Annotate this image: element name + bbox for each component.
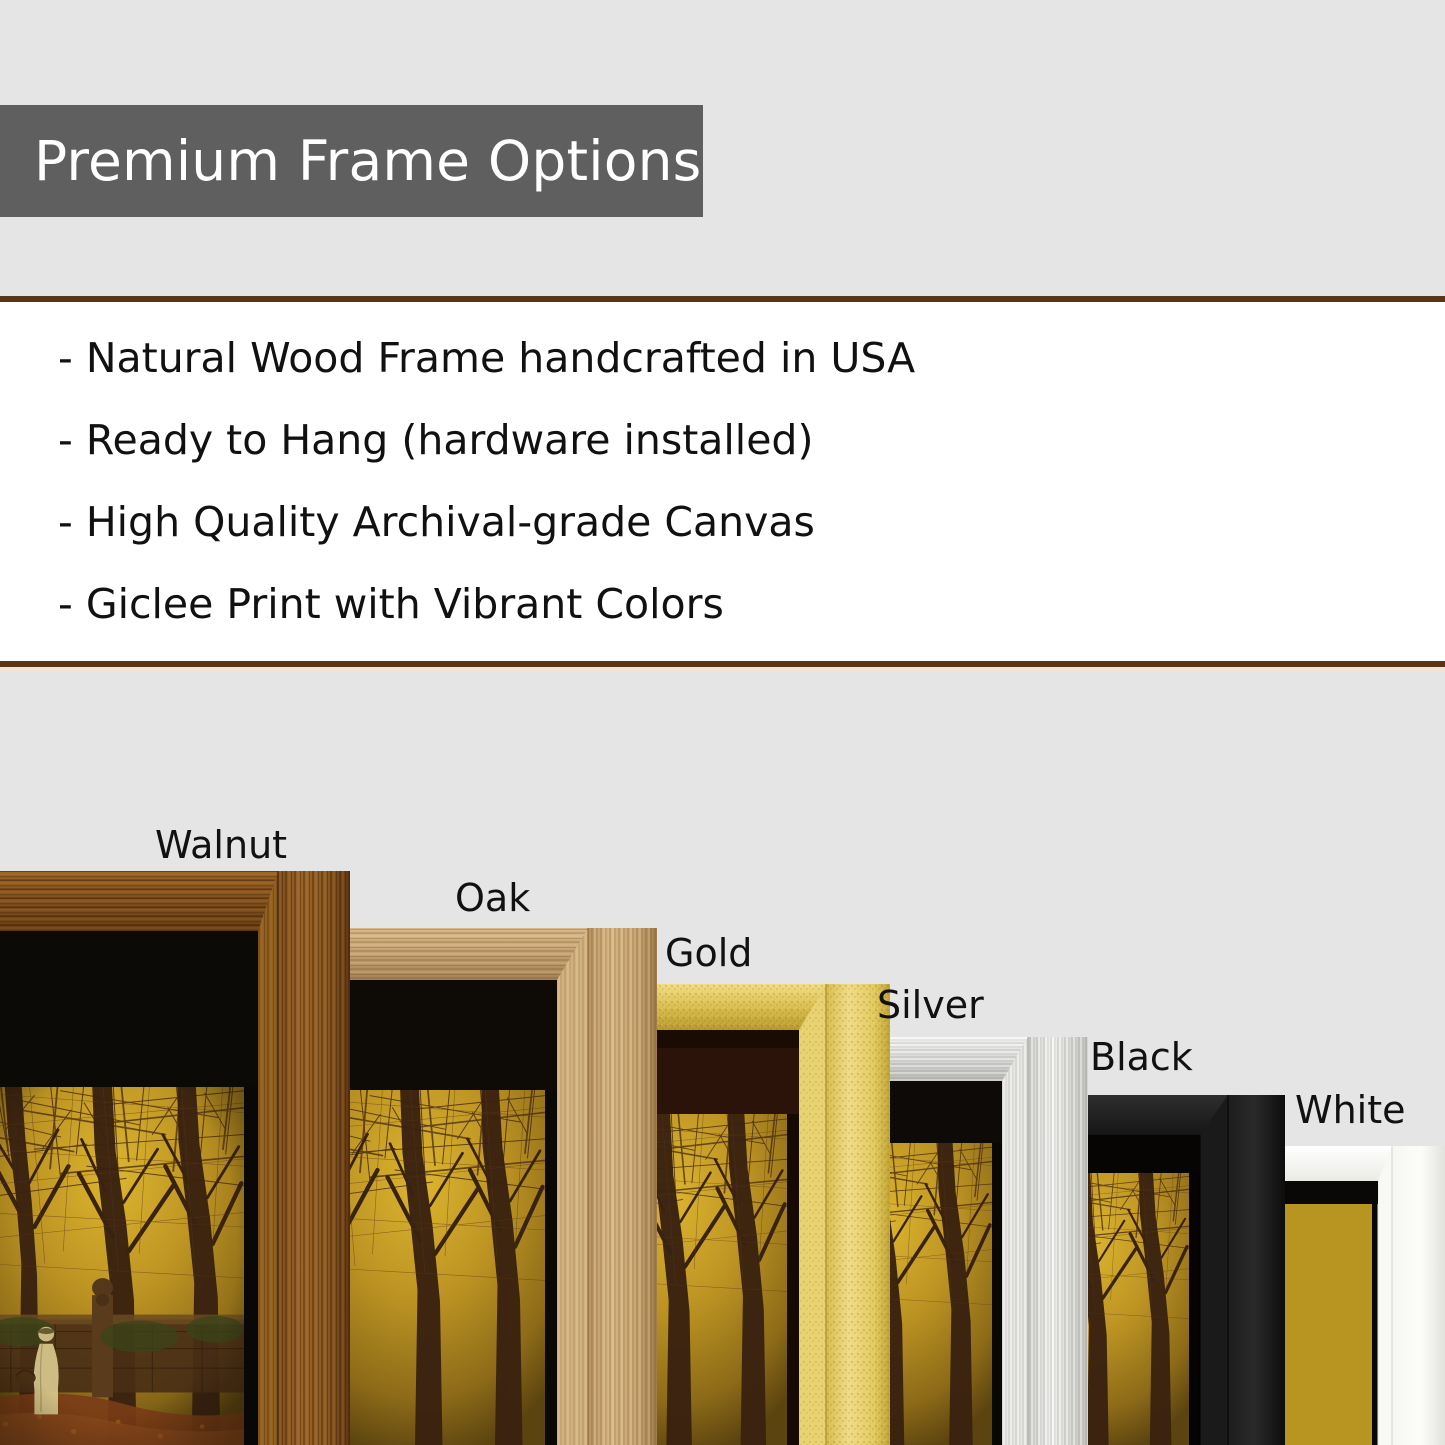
frame-walnut-svg — [0, 861, 350, 1445]
header-band: Premium Frame Options — [0, 0, 1445, 296]
product-infographic: Premium Frame Options - Natural Wood Fra… — [0, 0, 1445, 1445]
feature-item: - Ready to Hang (hardware installed) — [58, 420, 1445, 461]
frame-label-silver: Silver — [877, 986, 984, 1024]
frame-label-white: White — [1295, 1091, 1406, 1129]
frame-label-gold: Gold — [665, 934, 752, 972]
feature-list: - Natural Wood Frame handcrafted in USA … — [0, 302, 1445, 661]
frame-walnut[interactable] — [0, 861, 350, 1445]
page-title-banner: Premium Frame Options — [0, 105, 703, 217]
frame-showcase: Walnut Oak Gold Silver Black White — [0, 671, 1445, 1445]
feature-item: - High Quality Archival-grade Canvas — [58, 502, 1445, 543]
page-title: Premium Frame Options — [0, 134, 701, 189]
frame-label-walnut: Walnut — [155, 826, 287, 864]
feature-item: - Natural Wood Frame handcrafted in USA — [58, 338, 1445, 379]
feature-item: - Giclee Print with Vibrant Colors — [58, 584, 1445, 625]
frame-label-black: Black — [1090, 1038, 1193, 1076]
frame-label-oak: Oak — [455, 879, 530, 917]
